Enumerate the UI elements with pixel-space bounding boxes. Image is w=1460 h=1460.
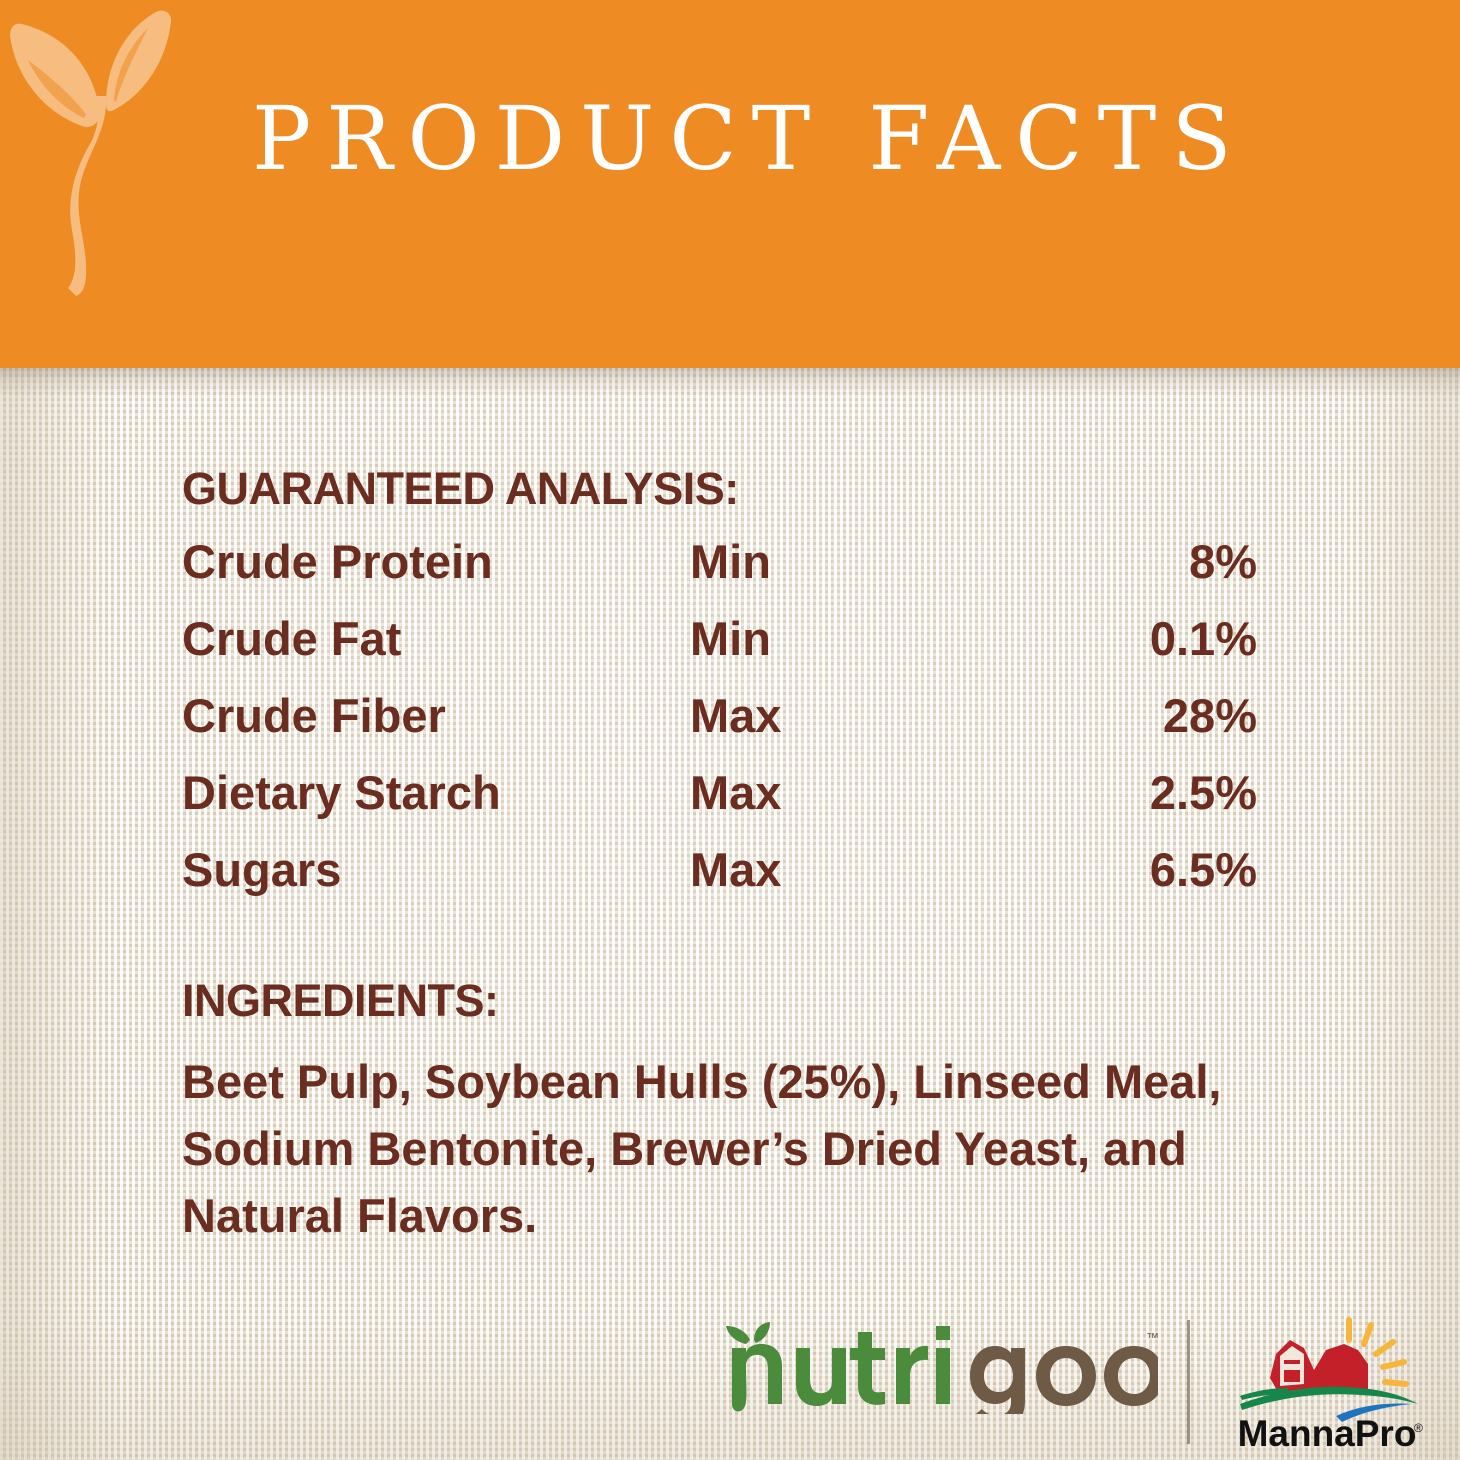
nutrient-value: 2.5%	[1150, 769, 1257, 816]
mannapro-logo: MannaPro ®	[1218, 1304, 1436, 1454]
nutrient-label: Dietary Starch	[182, 769, 501, 816]
nutrient-value: 0.1%	[1150, 615, 1257, 662]
nutrient-value: 6.5%	[1150, 846, 1257, 893]
nutrient-label: Crude Fiber	[182, 692, 446, 739]
table-row: Crude Fiber Max 28%	[182, 692, 1257, 769]
nutrient-value: 8%	[1189, 538, 1257, 585]
table-row: Crude Protein Min 8%	[182, 538, 1257, 615]
nutrient-label: Crude Protein	[182, 538, 493, 585]
guaranteed-analysis-heading: GUARANTEED ANALYSIS:	[182, 466, 739, 511]
nutrient-label: Sugars	[182, 846, 341, 893]
nutrient-value: 28%	[1163, 692, 1257, 739]
trademark-symbol: ™	[1146, 1330, 1158, 1345]
nutrigood-nutri-text	[732, 1326, 950, 1411]
label-content: GUARANTEED ANALYSIS: Crude Protein Min 8…	[0, 0, 1460, 1460]
ingredients-heading: INGREDIENTS:	[182, 978, 499, 1023]
table-row: Dietary Starch Max 2.5%	[182, 769, 1257, 846]
nutrient-qualifier: Min	[690, 538, 771, 585]
nutrient-qualifier: Min	[690, 615, 771, 662]
nutrient-qualifier: Max	[690, 692, 781, 739]
nutrigood-good-text	[970, 1346, 1158, 1414]
nutrigood-logo: ™	[718, 1322, 1158, 1414]
table-row: Sugars Max 6.5%	[182, 846, 1257, 923]
nutrient-qualifier: Max	[690, 846, 781, 893]
footer-logos: ™	[0, 1300, 1460, 1460]
product-facts-label: PRODUCT FACTS GUARANTEED ANALYSIS: Crude…	[0, 0, 1460, 1460]
logo-divider	[1187, 1320, 1190, 1444]
registered-symbol: ®	[1414, 1421, 1423, 1435]
ingredients-text: Beet Pulp, Soybean Hulls (25%), Linseed …	[182, 1048, 1268, 1249]
nutrient-label: Crude Fat	[182, 615, 401, 662]
guaranteed-analysis-table: Crude Protein Min 8% Crude Fat Min 0.1% …	[182, 538, 1257, 923]
table-row: Crude Fat Min 0.1%	[182, 615, 1257, 692]
barn-icon	[1270, 1340, 1368, 1394]
mannapro-wordmark: MannaPro	[1238, 1413, 1417, 1454]
nutrigood-sprout-icon	[726, 1322, 770, 1344]
nutrient-qualifier: Max	[690, 769, 781, 816]
